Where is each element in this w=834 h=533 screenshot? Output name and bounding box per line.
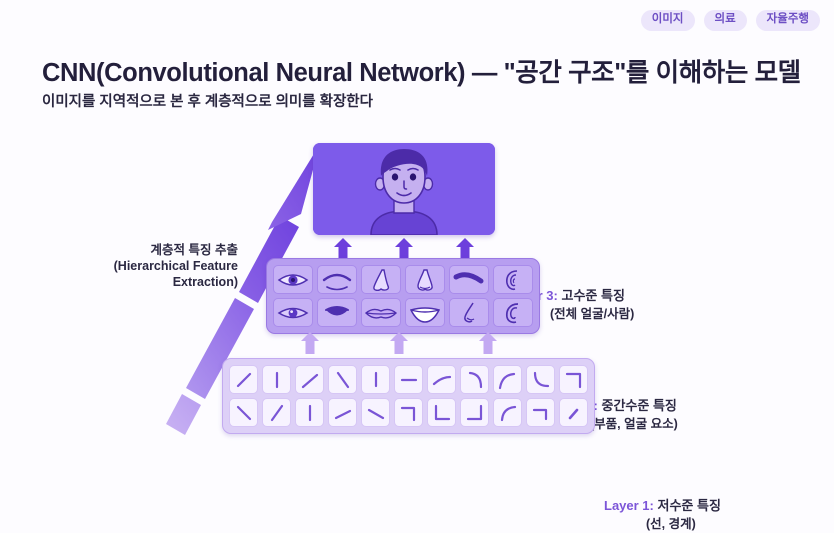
layer2-tile-eyebrow [317, 265, 357, 294]
layer1-label: Layer 1: 저수준 특징 (선, 경계) [604, 497, 721, 533]
layer1-tile-diagonal-up [229, 365, 258, 394]
layer2-tile-mouth [405, 298, 445, 327]
arrow-up-layer2-to-layer3-1 [334, 238, 352, 260]
arrow-up-layer1-to-layer2-1 [301, 332, 319, 354]
hier-line-1: 계층적 특징 추출 [78, 242, 238, 258]
tag-badge-row: 이미지 의료 자율주행 [641, 10, 820, 31]
layer3-face-image [313, 143, 495, 235]
layer2-tile-nose-side [449, 298, 489, 327]
layer2-feature-grid [266, 258, 540, 334]
badge-autonomous-driving[interactable]: 자율주행 [756, 10, 820, 31]
layer1-tile-shallow-up [328, 398, 357, 427]
layer1-detail: (선, 경계) [604, 515, 721, 533]
layer1-edge-grid [222, 358, 595, 434]
layer2-tile-eyebrow-2 [449, 265, 489, 294]
layer2-feature: 중간수준 특징 [598, 398, 677, 413]
layer1-tile-vertical [262, 365, 291, 394]
layer1-feature: 저수준 특징 [654, 498, 721, 513]
layer2-tile-lips [361, 298, 401, 327]
layer1-tile-diagonal-up-2 [295, 365, 324, 394]
layer1-tile-corner-top [394, 398, 423, 427]
layer2-tile-eye-closed [317, 298, 357, 327]
arrow-up-layer2-to-layer3-3 [456, 238, 474, 260]
arrow-up-layer1-to-layer2-2 [390, 332, 408, 354]
layer1-tile-shallow-down [361, 398, 390, 427]
cnn-hierarchy-diagram: 계층적 특징 추출 (Hierarchical Feature Extracti… [0, 118, 834, 442]
layer1-tile-vertical-3 [295, 398, 324, 427]
arrow-up-layer2-to-layer3-2 [395, 238, 413, 260]
layer1-tile-corner-br [460, 398, 489, 427]
layer2-tile-ear-2 [493, 298, 533, 327]
badge-medical[interactable]: 의료 [704, 10, 747, 31]
layer1-tile-horizontal [394, 365, 423, 394]
layer1-tile-shallow-slope [427, 365, 456, 394]
layer1-tile-corner-tr [559, 365, 588, 394]
layer1-tile-diagonal-down [328, 365, 357, 394]
layer1-tile-corner-bl [427, 398, 456, 427]
layer1-tile-diagonal-up-3 [262, 398, 291, 427]
layer2-tile-nose-2 [405, 265, 445, 294]
arrow-up-layer1-to-layer2-3 [479, 332, 497, 354]
layer1-number: Layer 1: [604, 498, 654, 513]
layer1-tile-curve-right [460, 365, 489, 394]
layer1-tile-curve-top [493, 365, 522, 394]
layer1-tile-corner-step [526, 398, 555, 427]
page-subtitle: 이미지를 지역적으로 본 후 계층적으로 의미를 확장한다 [42, 90, 373, 111]
hierarchical-feature-label: 계층적 특징 추출 (Hierarchical Feature Extracti… [78, 242, 238, 290]
badge-image[interactable]: 이미지 [641, 10, 695, 31]
layer1-tile-vertical-2 [361, 365, 390, 394]
layer1-tile-curve-down [526, 365, 555, 394]
layer2-tile-eye-2 [273, 298, 313, 327]
layer2-tile-eye [273, 265, 313, 294]
hier-line-2: (Hierarchical Feature [78, 258, 238, 274]
layer2-tile-nose [361, 265, 401, 294]
layer1-tile-diagonal-down-2 [229, 398, 258, 427]
page-title: CNN(Convolutional Neural Network) — "공간 … [42, 52, 801, 89]
layer1-tile-curve-arc [493, 398, 522, 427]
layer3-feature: 고수준 특징 [558, 288, 625, 303]
layer2-tile-ear [493, 265, 533, 294]
hier-line-3: Extraction) [78, 274, 238, 290]
layer1-tile-short-diagonal [559, 398, 588, 427]
